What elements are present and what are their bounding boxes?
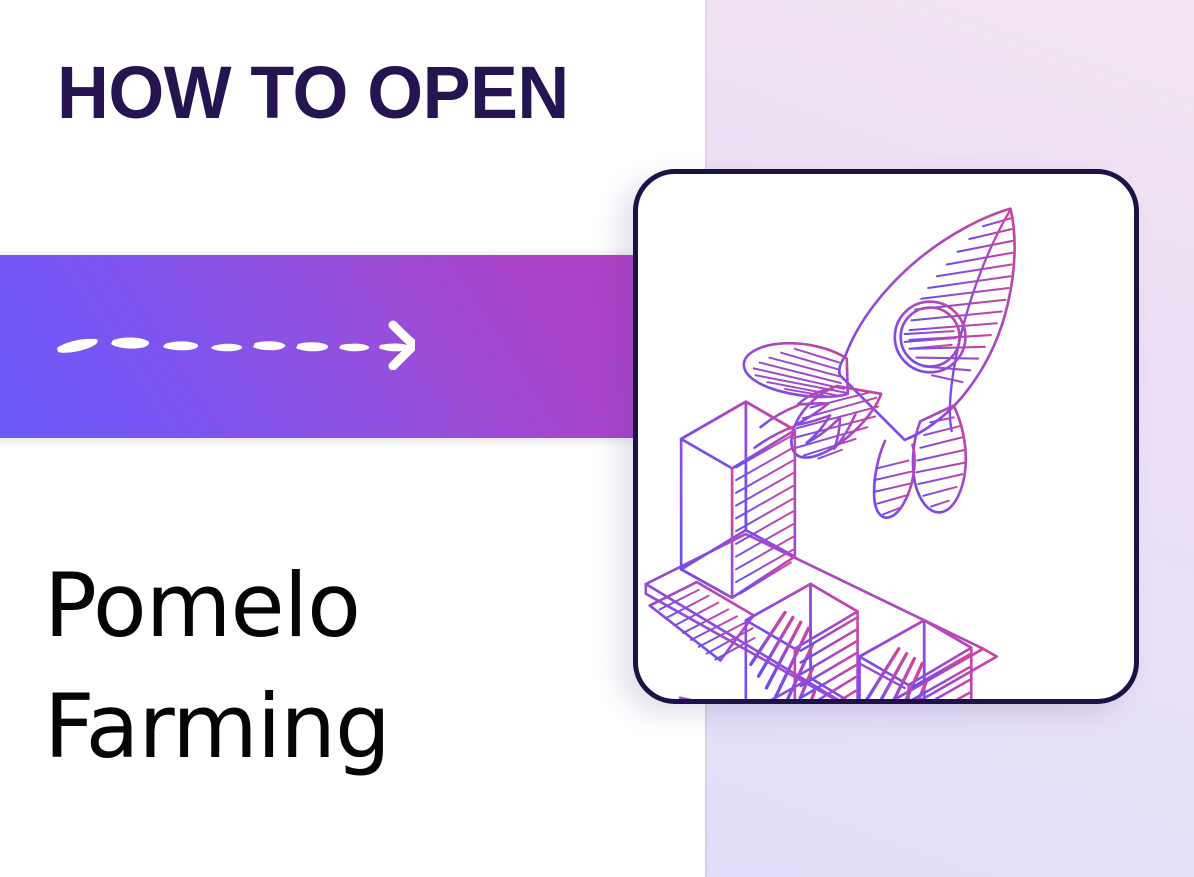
dashed-arrow-right-icon [55,318,415,370]
illustration-card [633,169,1139,704]
bar-chart-illustration [646,402,997,699]
bar-column-2 [746,584,858,699]
ribbon-shadow-top [0,247,636,255]
bar-column-3-hatching [862,649,926,699]
poster-canvas: HOW TO OPEN Pomelo Farming [0,0,1194,877]
marker-circle-1 [669,698,716,699]
bar-column-1 [681,402,795,598]
bar-column-2-hatching [751,612,815,699]
product-title-line-1: Pomelo [44,545,604,666]
rocket-nose-hatching [910,218,1013,382]
page-title: HOW TO OPEN [57,56,569,130]
product-title: Pomelo Farming [44,545,604,788]
rocket-tail-hatching [874,461,912,515]
product-title-line-2: Farming [44,666,604,787]
exhaust-flame [755,389,856,449]
ribbon-shadow-bottom [0,438,636,448]
rocket-fin-right [913,406,966,513]
rocket [744,209,1015,518]
